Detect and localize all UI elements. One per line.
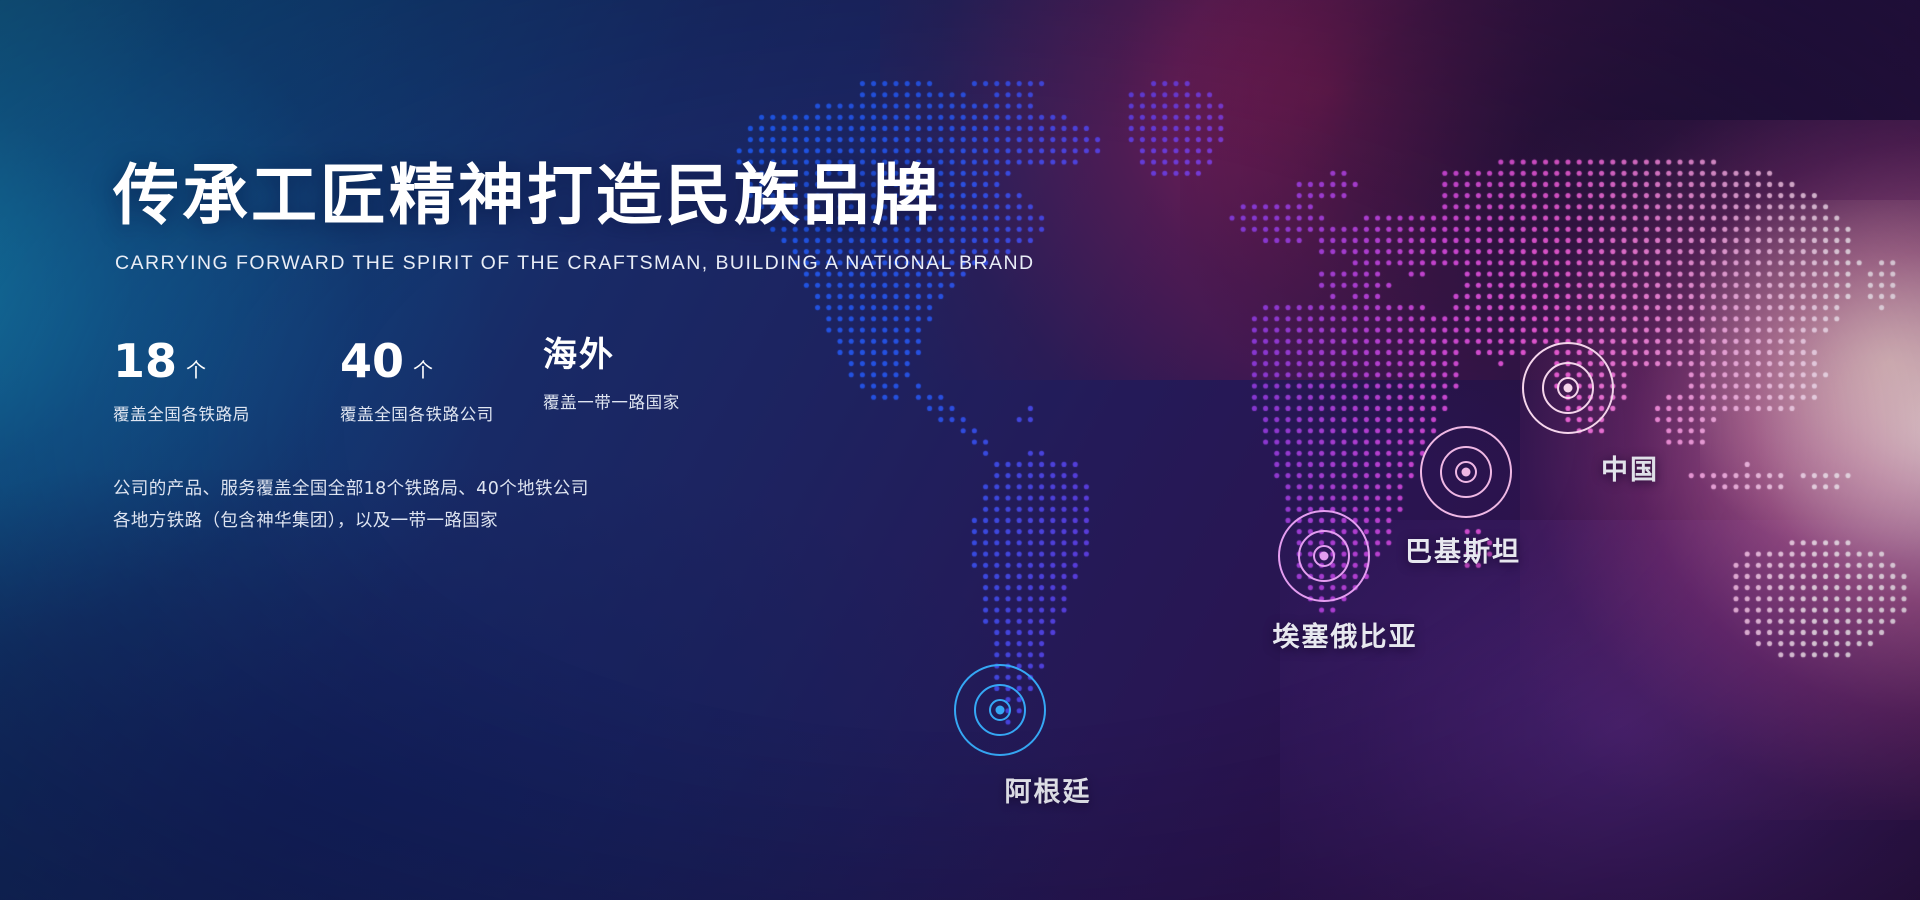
- stat-item-metro-companies: 40 个 覆盖全国各铁路公司: [340, 338, 543, 425]
- stat-number: 18: [113, 338, 177, 384]
- stat-number: 海外: [543, 338, 615, 372]
- page-subtitle: CARRYING FORWARD THE SPIRIT OF THE CRAFT…: [115, 252, 1035, 275]
- stat-caption: 覆盖全国各铁路公司: [340, 401, 543, 425]
- body-copy-line-1: 公司的产品、服务覆盖全国全部18个铁路局、40个地铁公司: [113, 473, 589, 505]
- page-title: 传承工匠精神打造民族品牌: [113, 163, 941, 229]
- stat-number: 40: [340, 338, 404, 384]
- stat-caption: 覆盖全国各铁路局: [113, 401, 340, 425]
- vignette-overlay: [0, 0, 1920, 900]
- stat-value: 40 个: [340, 338, 543, 384]
- promo-banner: 中国巴基斯坦埃塞俄比亚阿根廷 传承工匠精神打造民族品牌 CARRYING FOR…: [0, 0, 1920, 900]
- stat-item-overseas: 海外 覆盖一带一路国家: [543, 338, 680, 413]
- stat-unit: 个: [186, 360, 206, 380]
- body-copy-line-2: 各地方铁路（包含神华集团），以及一带一路国家: [113, 505, 589, 537]
- stat-value: 海外: [543, 338, 680, 372]
- stat-item-railway-bureaus: 18 个 覆盖全国各铁路局: [113, 338, 340, 425]
- body-copy: 公司的产品、服务覆盖全国全部18个铁路局、40个地铁公司 各地方铁路（包含神华集…: [113, 473, 589, 537]
- stat-caption: 覆盖一带一路国家: [543, 389, 680, 413]
- stats-row: 18 个 覆盖全国各铁路局 40 个 覆盖全国各铁路公司 海外 覆盖一带一路国家: [113, 338, 680, 425]
- stat-value: 18 个: [113, 338, 340, 384]
- stat-unit: 个: [413, 360, 433, 380]
